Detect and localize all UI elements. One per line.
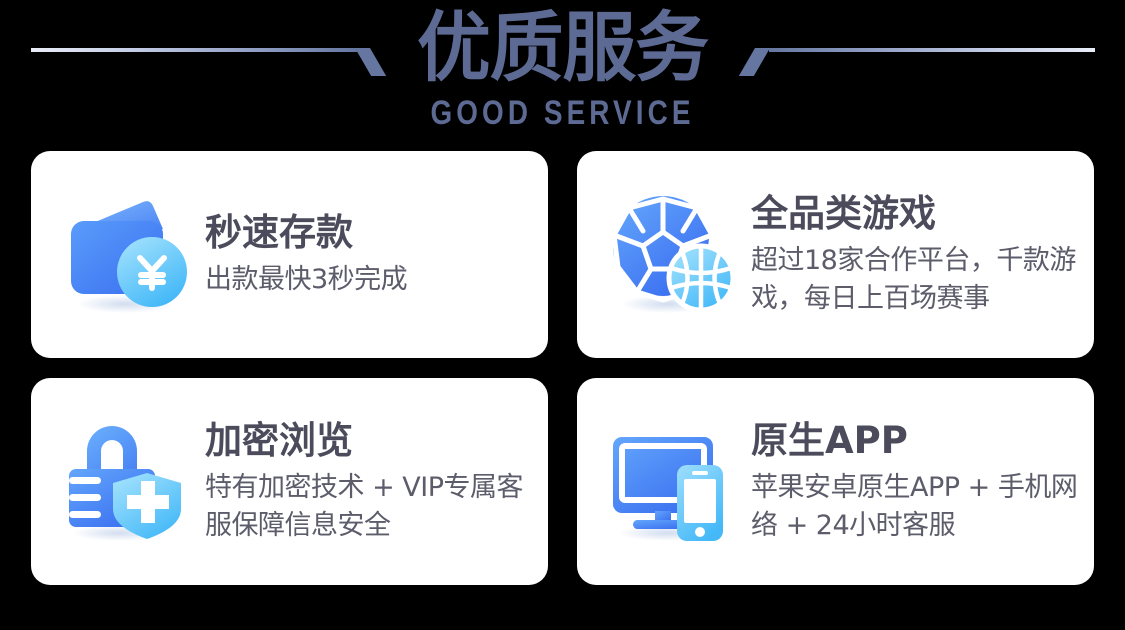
wallet-yen-icon [59, 188, 193, 322]
card-subtitle: 苹果安卓原生APP + 手机网络 + 24小时客服 [751, 469, 1081, 545]
feature-card-native-app[interactable]: 原生APP 苹果安卓原生APP + 手机网络 + 24小时客服 [577, 378, 1094, 585]
feature-card-text: 全品类游戏 超过18家合作平台，千款游戏，每日上百场赛事 [751, 191, 1084, 318]
feature-card-text: 原生APP 苹果安卓原生APP + 手机网络 + 24小时客服 [751, 418, 1084, 545]
feature-card-all-category-games[interactable]: 全品类游戏 超过18家合作平台，千款游戏，每日上百场赛事 [577, 151, 1094, 358]
page-subtitle: GOOD SERVICE [101, 94, 1024, 132]
page-title: 优质服务 [17, 6, 1108, 90]
monitor-phone-icon [605, 415, 739, 549]
card-title: 加密浏览 [205, 418, 538, 464]
feature-card-text: 秒速存款 出款最快3秒完成 [205, 210, 538, 299]
card-subtitle: 出款最快3秒完成 [205, 261, 538, 299]
card-title: 全品类游戏 [751, 191, 1084, 237]
feature-card-instant-deposit[interactable]: 秒速存款 出款最快3秒完成 [31, 151, 548, 358]
card-subtitle: 超过18家合作平台，千款游戏，每日上百场赛事 [751, 242, 1081, 318]
feature-card-encrypted-browsing[interactable]: 加密浏览 特有加密技术 + VIP专属客服保障信息安全 [31, 378, 548, 585]
card-title: 秒速存款 [205, 210, 538, 256]
lock-shield-icon [59, 415, 193, 549]
banner-header: 优质服务 GOOD SERVICE [0, 0, 1125, 148]
feature-card-grid: 秒速存款 出款最快3秒完成 [31, 151, 1094, 585]
feature-card-text: 加密浏览 特有加密技术 + VIP专属客服保障信息安全 [205, 418, 538, 545]
soccer-basketball-icon [605, 188, 739, 322]
card-subtitle: 特有加密技术 + VIP专属客服保障信息安全 [205, 469, 535, 545]
card-title: 原生APP [751, 418, 1084, 464]
promo-banner: 优质服务 GOOD SERVICE [0, 0, 1125, 630]
